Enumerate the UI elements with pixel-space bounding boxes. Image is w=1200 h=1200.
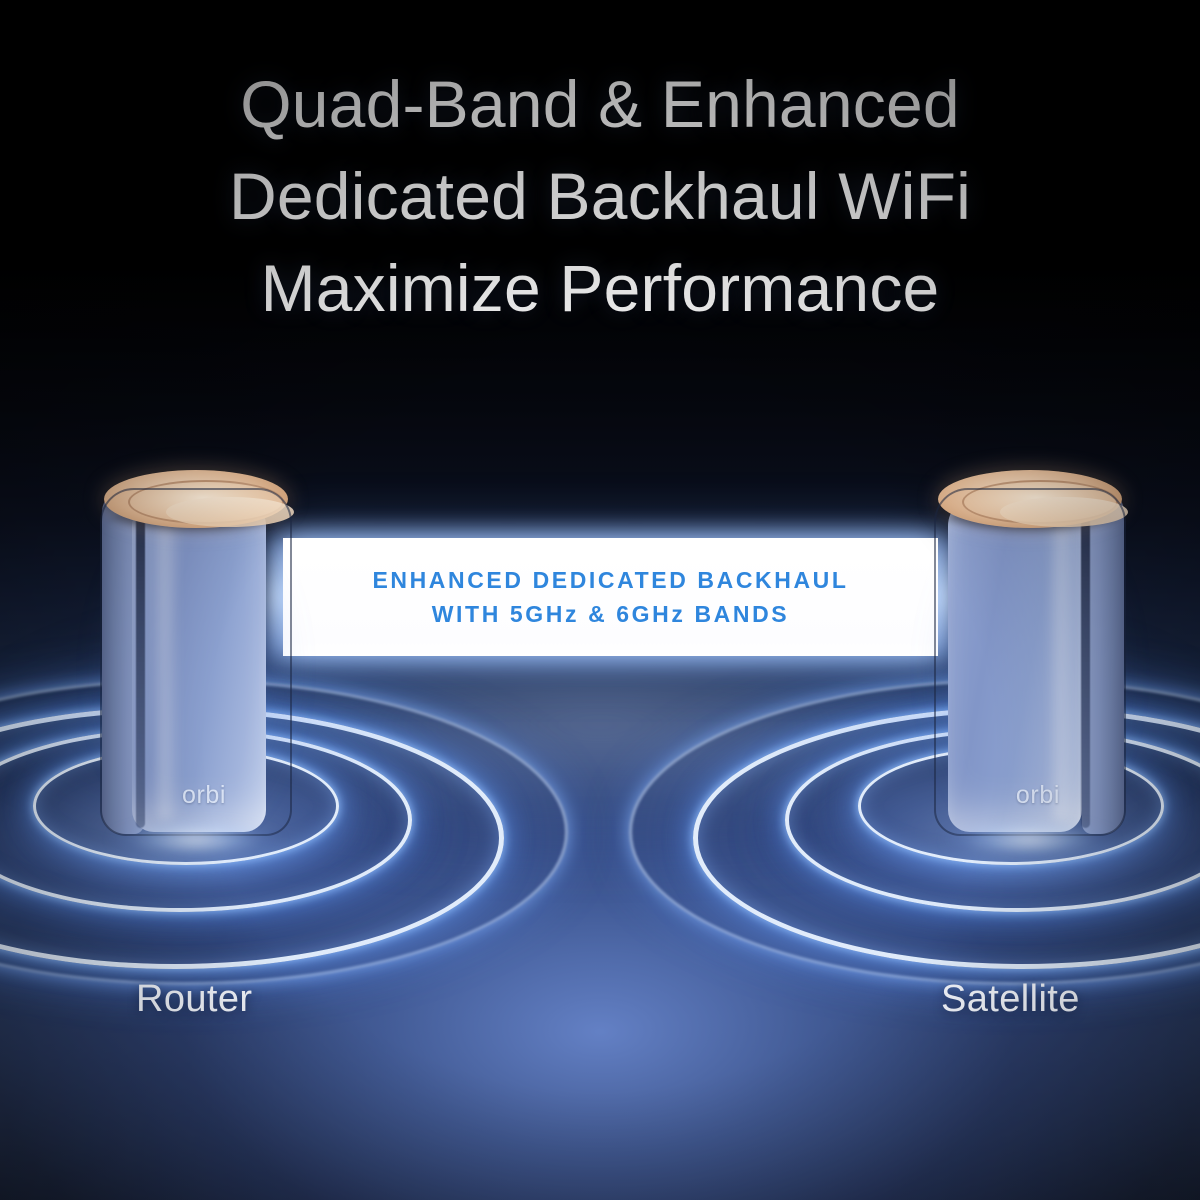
router-top-cap [104, 470, 288, 528]
backhaul-banner: ENHANCED DEDICATED BACKHAUL WITH 5GHz & … [283, 538, 938, 656]
banner-plate: ENHANCED DEDICATED BACKHAUL WITH 5GHz & … [283, 538, 938, 656]
router-gloss-highlight [152, 508, 178, 820]
satellite-gloss-highlight [1048, 508, 1074, 820]
satellite-caption: Satellite [941, 978, 1080, 1021]
headline-line-3: Maximize Performance [0, 242, 1200, 334]
banner-line-1: ENHANCED DEDICATED BACKHAUL [372, 563, 848, 597]
product-marketing-image: Quad-Band & Enhanced Dedicated Backhaul … [0, 0, 1200, 1200]
banner-line-2: WITH 5GHz & 6GHz BANDS [432, 597, 790, 631]
page-headline: Quad-Band & Enhanced Dedicated Backhaul … [0, 58, 1200, 334]
router-base-glow [110, 820, 282, 860]
satellite-device: orbi [930, 468, 1130, 848]
satellite-base-glow [944, 820, 1116, 860]
router-orbi-logo: orbi [182, 781, 226, 810]
satellite-cap-ring [962, 480, 1118, 524]
router-cap-ring [128, 480, 284, 524]
headline-line-2: Dedicated Backhaul WiFi [0, 150, 1200, 242]
headline-line-1: Quad-Band & Enhanced [0, 58, 1200, 150]
router-caption: Router [136, 978, 252, 1021]
satellite-cap-inner [1000, 497, 1128, 527]
router-cap-inner [166, 497, 294, 527]
router-body-seam [136, 494, 145, 828]
satellite-orbi-logo: orbi [1016, 781, 1060, 810]
satellite-top-cap [938, 470, 1122, 528]
satellite-body-seam [1081, 494, 1090, 828]
router-device: orbi [96, 468, 296, 848]
